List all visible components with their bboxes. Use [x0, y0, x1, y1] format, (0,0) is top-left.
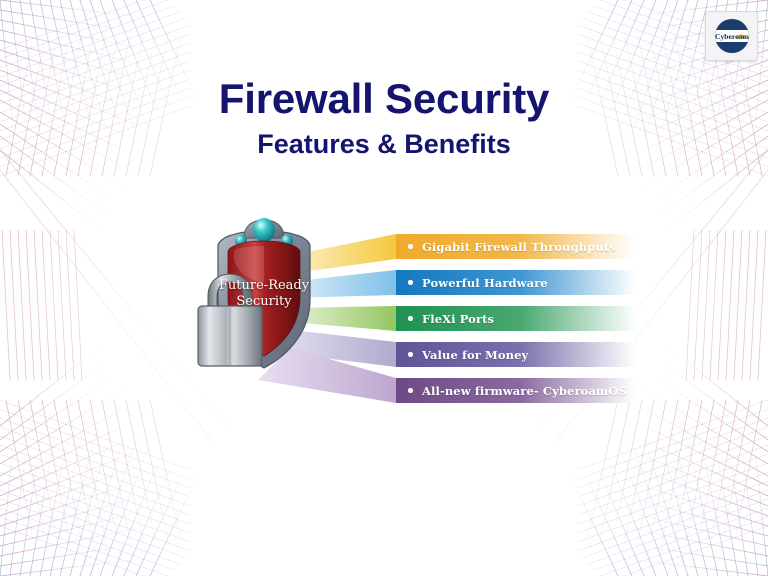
feature-label-all-new-firmware-cyberoamos: All-new firmware- CyberoamOS: [422, 384, 627, 398]
logo-wordmark: Cyberoam: [714, 32, 749, 41]
title-subtitle: Features & Benefits: [0, 131, 768, 158]
shield-caption-line2: Security: [194, 294, 334, 310]
title-main: Firewall Security: [0, 78, 768, 120]
cyberoam-logo: Cyberoam: [705, 11, 758, 61]
bullet-dot: [408, 280, 413, 285]
feature-label-flexi-ports: FleXi Ports: [422, 312, 494, 326]
bullet-dot: [408, 388, 413, 393]
shield-caption-line1: Future-Ready: [194, 278, 334, 294]
feature-label-value-for-money: Value for Money: [422, 348, 528, 362]
feature-label-gigabit-firewall-throughputs: Gigabit Firewall Throughputs: [422, 240, 616, 254]
slide-canvas: Cyberoam Firewall Security Features & Be…: [0, 0, 768, 576]
shield-caption: Future-Ready Security: [194, 278, 334, 311]
bullet-dot: [408, 244, 413, 249]
bullet-dot: [408, 316, 413, 321]
page-title: Firewall Security Features & Benefits: [0, 78, 768, 158]
firewall-features-graphic: Future-Ready Security Gigabit Firewall T…: [140, 212, 660, 422]
feature-label-powerful-hardware: Powerful Hardware: [422, 276, 548, 290]
shield-gem-center: [253, 218, 275, 242]
bullet-dot: [408, 352, 413, 357]
